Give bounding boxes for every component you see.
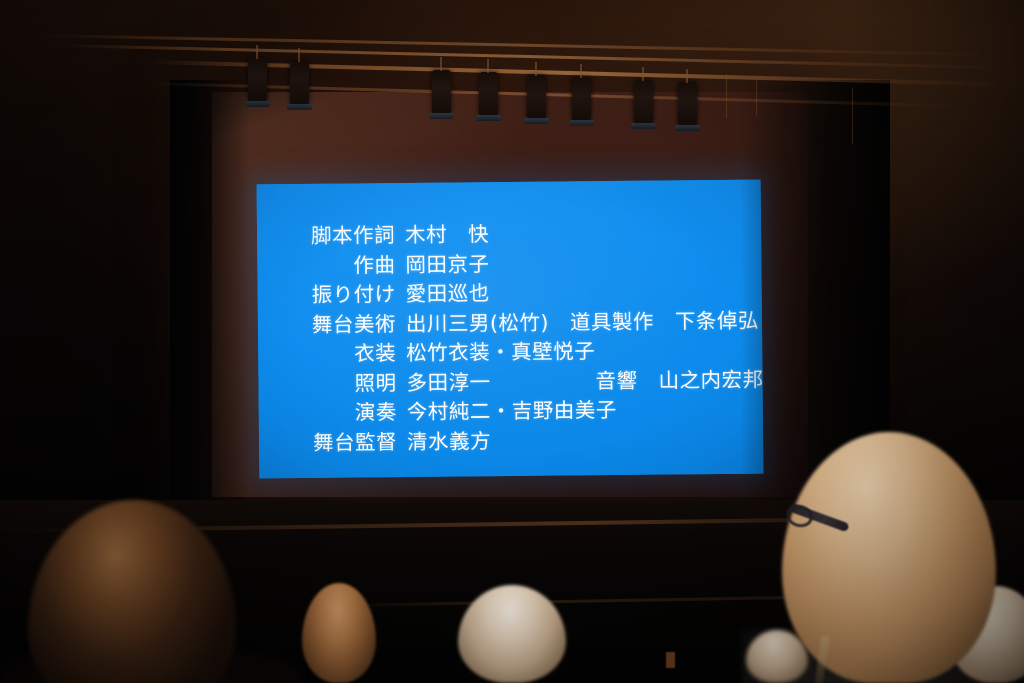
credit-row: 照明 多田淳一 音響 山之内宏邦 xyxy=(258,365,762,399)
credit-value: 今村純二・吉野由美子 xyxy=(407,396,617,428)
credit-label: 演奏 xyxy=(259,398,397,429)
credit-row: 舞台監督 清水義方 xyxy=(259,424,763,458)
credit-value: 愛田巡也 xyxy=(406,279,490,309)
credit-row: 作曲 岡田京子 xyxy=(257,247,761,281)
credit-row: 衣装 松竹衣装・真壁悦子 xyxy=(258,336,762,370)
credits-list: 脚本作詞 木村 快 作曲 岡田京子 振り付け 愛田巡也 舞台美術 出川三男(松竹… xyxy=(257,218,763,459)
audience-head-bald xyxy=(782,432,996,683)
truss-bar xyxy=(60,44,1010,69)
credit-label: 振り付け xyxy=(258,280,396,311)
truss-bar xyxy=(150,60,1010,87)
credit-row: 演奏 今村純二・吉野由美子 xyxy=(259,395,763,429)
credit-label: 舞台美術 xyxy=(258,310,396,341)
credit-value: 出川三男(松竹) 道具製作 下条倬弘 xyxy=(406,306,759,339)
credit-label: 作曲 xyxy=(257,251,395,282)
credit-row: 脚本作詞 木村 快 xyxy=(257,218,761,252)
credit-label: 照明 xyxy=(258,369,396,400)
credit-row: 振り付け 愛田巡也 xyxy=(258,277,762,311)
credit-value: 松竹衣装・真壁悦子 xyxy=(406,337,595,368)
credit-value: 木村 快 xyxy=(405,220,489,250)
credit-value: 岡田京子 xyxy=(405,250,489,280)
credit-value: 多田淳一 音響 山之内宏邦 xyxy=(406,365,763,398)
theater-scene: 脚本作詞 木村 快 作曲 岡田京子 振り付け 愛田巡也 舞台美術 出川三男(松竹… xyxy=(0,0,1024,683)
projected-slide: 脚本作詞 木村 快 作曲 岡田京子 振り付け 愛田巡也 舞台美術 出川三男(松竹… xyxy=(257,180,764,479)
credit-label: 舞台監督 xyxy=(259,428,397,459)
rigging-cable xyxy=(852,88,853,144)
credit-value: 清水義方 xyxy=(407,427,491,457)
credit-row: 舞台美術 出川三男(松竹) 道具製作 下条倬弘 xyxy=(258,306,762,340)
credit-label: 脚本作詞 xyxy=(257,221,395,252)
truss-bar xyxy=(40,34,1000,56)
credit-label: 衣装 xyxy=(258,339,396,370)
stage-marker-light xyxy=(666,652,675,668)
